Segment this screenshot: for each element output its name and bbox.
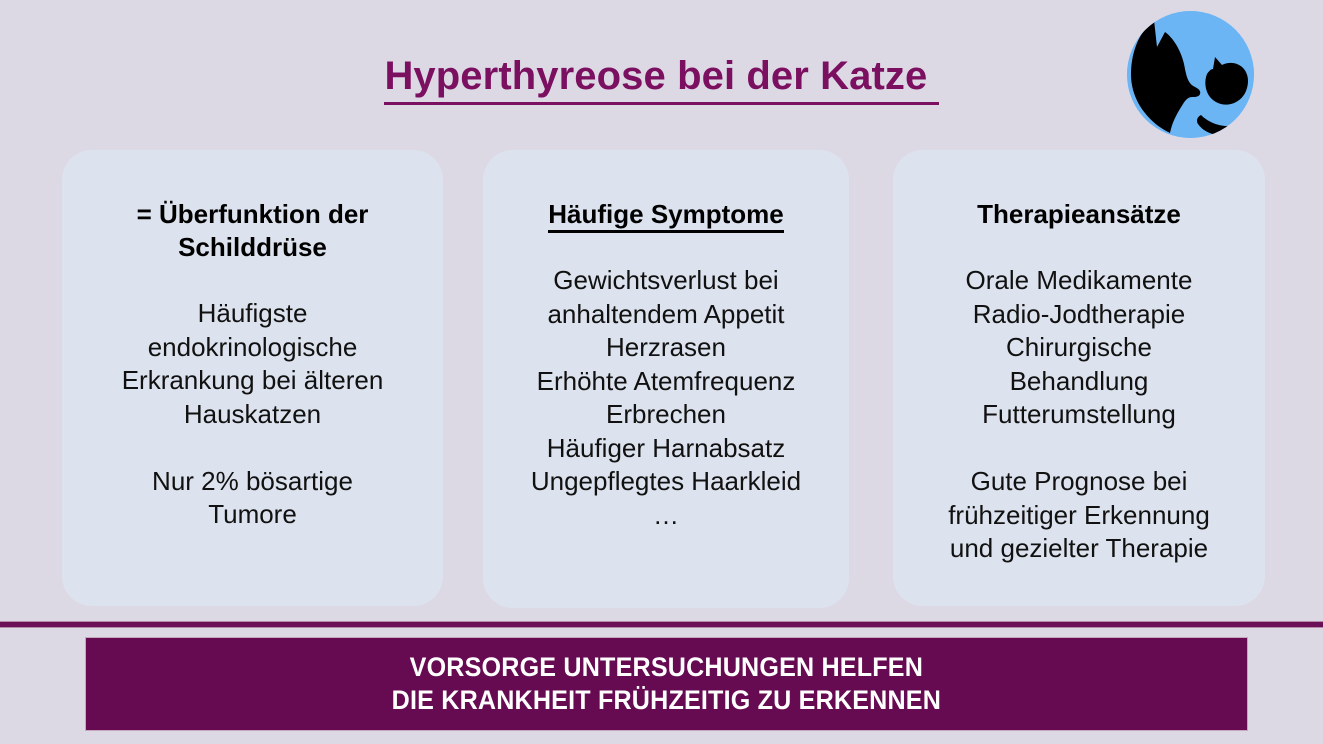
cards-row: = Überfunktion der Schilddrüse Häufigste… [62, 150, 1265, 608]
card-therapy-heading: Therapieansätze [903, 150, 1255, 231]
dog-cat-silhouette-logo [1127, 11, 1254, 138]
page-title: Hyperthyreose bei der Katze [0, 54, 1323, 99]
page-title-text: Hyperthyreose bei der Katze [384, 54, 938, 105]
slide-canvas: Hyperthyreose bei der Katze = Überfunkti… [0, 0, 1323, 744]
card-definition-body: Häufigste endokrinologische Erkrankung b… [72, 264, 433, 532]
card-symptoms-body: Gewichtsverlust bei anhaltendem Appetit … [493, 231, 839, 532]
section-divider [0, 621, 1323, 628]
card-symptoms-heading-wrap: Häufige Symptome [493, 150, 839, 231]
card-definition: = Überfunktion der Schilddrüse Häufigste… [62, 150, 443, 606]
card-symptoms: Häufige Symptome Gewichtsverlust bei anh… [483, 150, 849, 608]
card-symptoms-heading: Häufige Symptome [548, 199, 784, 233]
card-therapy: Therapieansätze Orale Medikamente Radio-… [893, 150, 1265, 606]
footer-banner: VORSORGE UNTERSUCHUNGEN HELFEN DIE KRANK… [85, 637, 1248, 731]
footer-banner-text: VORSORGE UNTERSUCHUNGEN HELFEN DIE KRANK… [392, 651, 941, 717]
logo-svg [1127, 11, 1254, 138]
card-definition-heading: = Überfunktion der Schilddrüse [72, 150, 433, 264]
card-therapy-body: Orale Medikamente Radio-Jodtherapie Chir… [903, 231, 1255, 566]
